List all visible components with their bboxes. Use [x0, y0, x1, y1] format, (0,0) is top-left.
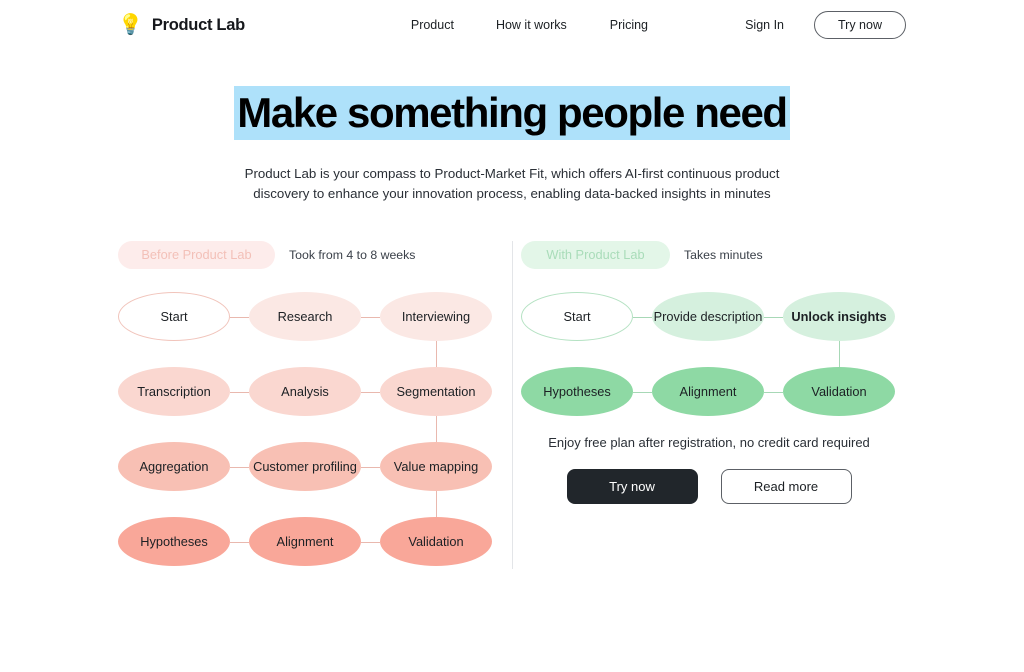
diagram-node: Provide description: [652, 292, 764, 341]
diagram-node: Validation: [380, 517, 492, 566]
diagram-node: Customer profiling: [249, 442, 361, 491]
header-try-now-button[interactable]: Try now: [814, 11, 906, 39]
brand-name: Product Lab: [152, 16, 245, 35]
with-duration-note: Takes minutes: [684, 248, 763, 262]
nav-link-product[interactable]: Product: [411, 14, 454, 36]
cta-try-now-button[interactable]: Try now: [567, 469, 698, 504]
diagram-node: Validation: [783, 367, 895, 416]
cta-buttons: Try now Read more: [521, 469, 897, 504]
diagram-node: Analysis: [249, 367, 361, 416]
before-badge: Before Product Lab: [118, 241, 275, 269]
before-column: Before Product Lab Took from 4 to 8 week…: [118, 241, 503, 571]
with-header: With Product Lab Takes minutes: [521, 241, 906, 269]
with-badge: With Product Lab: [521, 241, 670, 269]
diagram-node: Interviewing: [380, 292, 492, 341]
diagram-node: Segmentation: [380, 367, 492, 416]
cta-block: Enjoy free plan after registration, no c…: [521, 435, 897, 504]
diagram-node: Hypotheses: [118, 517, 230, 566]
before-duration-note: Took from 4 to 8 weeks: [289, 248, 415, 262]
diagram-node: Alignment: [249, 517, 361, 566]
diagram-node: Start: [118, 292, 230, 341]
with-column: With Product Lab Takes minutes StartProv…: [521, 241, 906, 571]
diagram-node: Start: [521, 292, 633, 341]
site-header: 💡 Product Lab Product How it works Prici…: [0, 0, 1024, 50]
page-title: Make something people need: [234, 86, 789, 140]
column-divider: [512, 241, 513, 569]
diagram-node: Research: [249, 292, 361, 341]
diagram-node: Aggregation: [118, 442, 230, 491]
hero-section: Make something people need Product Lab i…: [0, 86, 1024, 205]
hero-subtitle: Product Lab is your compass to Product-M…: [222, 164, 802, 205]
with-diagram: StartProvide descriptionUnlock insightsH…: [521, 291, 906, 421]
nav-link-how-it-works[interactable]: How it works: [496, 14, 567, 36]
sign-in-link[interactable]: Sign In: [745, 18, 784, 32]
diagram-node: Unlock insights: [783, 292, 895, 341]
lightbulb-icon: 💡: [118, 15, 143, 35]
diagram-node: Hypotheses: [521, 367, 633, 416]
cta-note: Enjoy free plan after registration, no c…: [521, 435, 897, 450]
comparison-section: Before Product Lab Took from 4 to 8 week…: [0, 241, 1024, 571]
brand-logo[interactable]: 💡 Product Lab: [118, 15, 245, 35]
before-header: Before Product Lab Took from 4 to 8 week…: [118, 241, 503, 269]
diagram-node: Value mapping: [380, 442, 492, 491]
before-diagram: StartResearchInterviewingTranscriptionAn…: [118, 291, 503, 571]
main-nav: Product How it works Pricing: [411, 14, 648, 36]
nav-link-pricing[interactable]: Pricing: [610, 14, 648, 36]
header-actions: Sign In Try now: [745, 11, 906, 39]
cta-read-more-button[interactable]: Read more: [721, 469, 852, 504]
diagram-node: Transcription: [118, 367, 230, 416]
diagram-node: Alignment: [652, 367, 764, 416]
